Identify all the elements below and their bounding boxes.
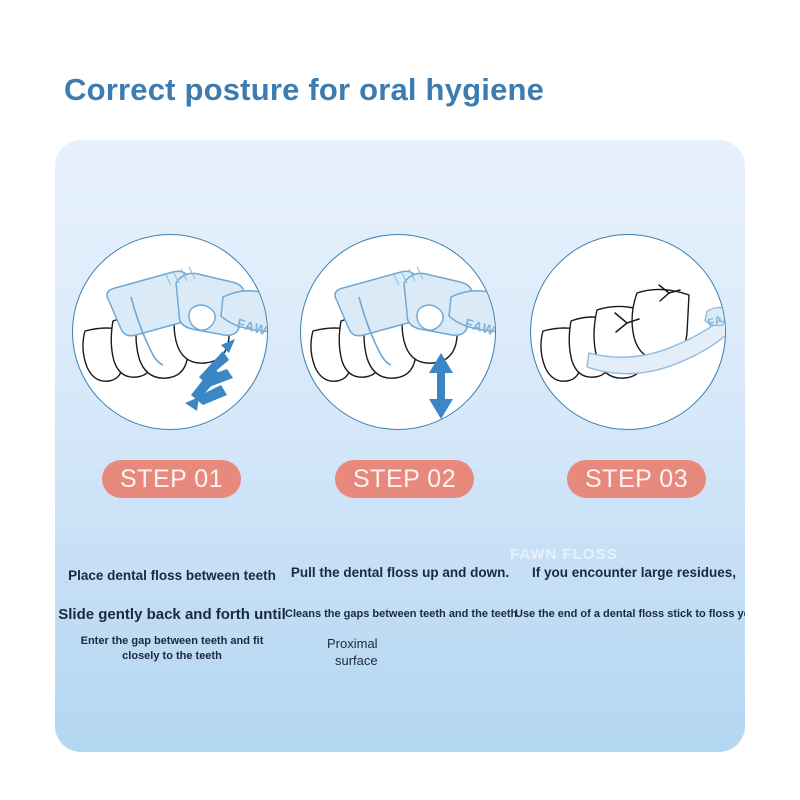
poster-root: Correct posture for oral hygiene FAWN FL… — [0, 0, 800, 800]
floss-pick-between-teeth-back-and-forth-icon: FAWN — [73, 235, 268, 430]
step-2-line-2: Cleans the gaps between teeth and the te… — [285, 607, 515, 622]
step-column-1: FAWN STEP 01 Place dental floss between … — [57, 140, 287, 752]
illustration-circle-step-1: FAWN — [72, 234, 268, 430]
illustration-circle-step-3: FA — [530, 234, 726, 430]
step-badge-2[interactable]: STEP 02 — [335, 460, 474, 498]
step-2-line-3-part-2: surface — [327, 653, 378, 668]
floss-pick-handle-tip-on-teeth-icon: FA — [531, 235, 726, 430]
step-3-line-1: If you encounter large residues, — [515, 565, 745, 580]
step-1-line-2: Slide gently back and forth until — [57, 606, 287, 623]
step-2-line-3: Proximal surface — [327, 635, 477, 669]
step-badge-1[interactable]: STEP 01 — [102, 460, 241, 498]
step-2-line-3-part-1: Proximal — [327, 636, 378, 651]
step-column-2: FAWN STEP 02 Pull the dental floss up an… — [285, 140, 515, 752]
step-1-line-3: Enter the gap between teeth and fit clos… — [75, 634, 269, 664]
steps-panel: FAWN FLOSS — [55, 140, 745, 752]
step-badge-3[interactable]: STEP 03 — [567, 460, 706, 498]
step-column-3: FA STEP 03 If you encounter large residu… — [515, 140, 745, 752]
step-1-line-1: Place dental floss between teeth — [57, 568, 287, 583]
step-2-line-1: Pull the dental floss up and down. — [285, 565, 515, 580]
illustration-circle-step-2: FAWN — [300, 234, 496, 430]
step-3-line-2: Use the end of a dental floss stick to f… — [515, 607, 745, 622]
floss-pick-between-teeth-up-and-down-icon: FAWN — [301, 235, 496, 430]
page-title: Correct posture for oral hygiene — [64, 72, 544, 108]
